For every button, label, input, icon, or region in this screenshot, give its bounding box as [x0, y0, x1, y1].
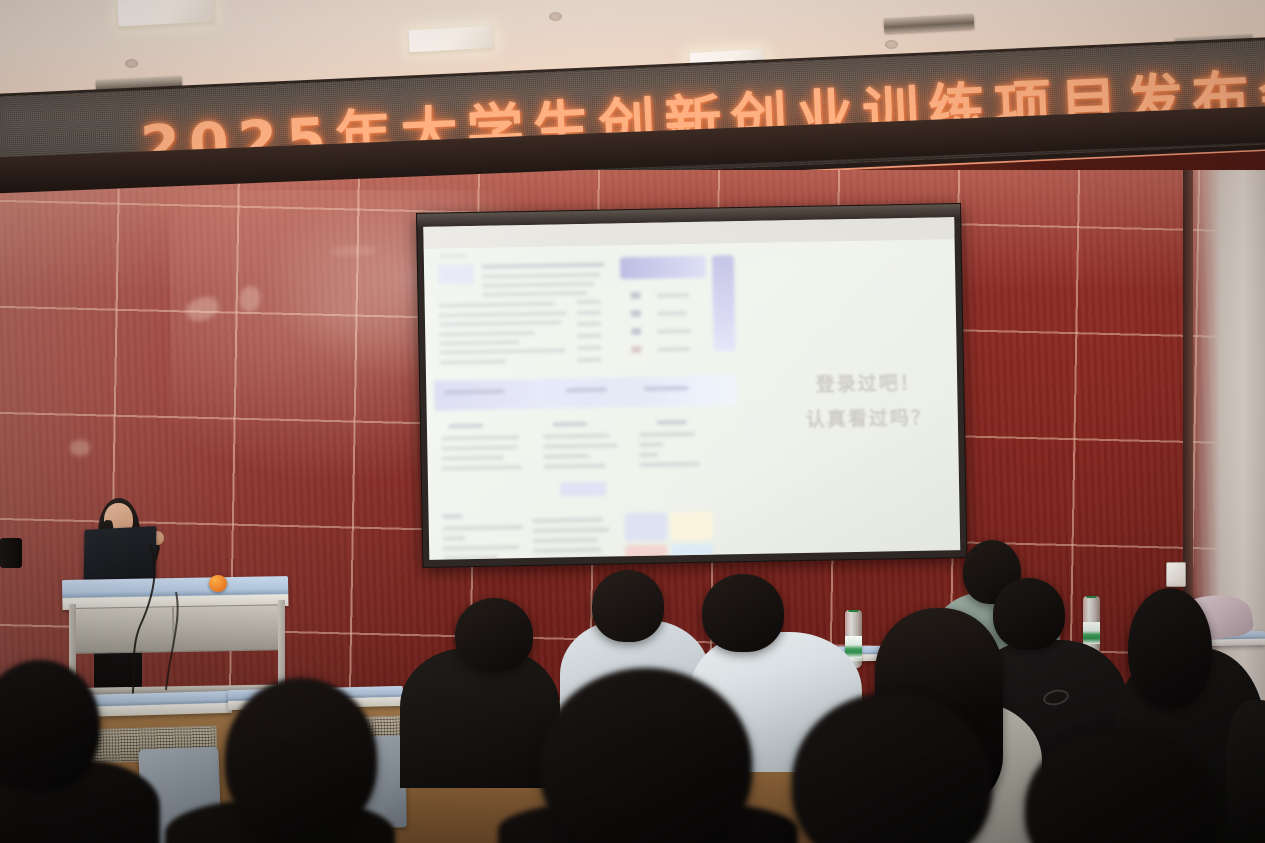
- smoke-detector-icon: [125, 59, 138, 68]
- attendee-foreground-curly-head: [225, 678, 377, 838]
- attendee-far-right-edge: [1226, 700, 1265, 843]
- bottle-label: [852, 640, 869, 662]
- slide-button: [560, 482, 606, 497]
- podium-front-panel: [70, 604, 283, 654]
- attendee-pink-cap-hair: [1128, 588, 1212, 708]
- bottle-cap: [848, 610, 859, 612]
- slide-tile-blue: [625, 512, 668, 541]
- projection-screen: 登录过吧！ 认真看过吗？: [416, 203, 967, 568]
- slide-overlay-line-1: 登录过吧！: [805, 366, 932, 403]
- slide-overlay-text: 登录过吧！ 认真看过吗？: [805, 366, 932, 439]
- attendee-dark-left-head: [455, 598, 533, 672]
- ceiling-light: [408, 26, 493, 52]
- bottle-cap: [855, 614, 866, 616]
- screen-surface: 登录过吧！ 认真看过吗？: [423, 217, 960, 560]
- attendee-foreground-center-head: [540, 668, 752, 843]
- stage-equipment: [0, 538, 22, 568]
- bottle-label: [1083, 622, 1100, 644]
- bottle-cap: [1086, 596, 1097, 598]
- slide-sidebar: [712, 255, 736, 351]
- attendee-black-logo-jacket-head: [993, 578, 1065, 650]
- slide-badge: [438, 264, 474, 285]
- slide-tile-red: [625, 544, 667, 559]
- slide-tile-cyan: [671, 544, 713, 560]
- wall-smudge: [70, 440, 90, 456]
- laptop-screen: [84, 526, 157, 586]
- orange-fruit: [209, 575, 227, 592]
- light-switch[interactable]: [1166, 562, 1186, 587]
- lecture-hall-photo: 2025年大学生创新创业训练项目发布会: [0, 0, 1265, 843]
- slide-header-bar: [620, 256, 706, 280]
- slide-overlay-line-2: 认真看过吗？: [806, 401, 933, 438]
- attendee-gray-hoodie-head: [592, 570, 664, 642]
- attendee-white-puffer-head: [702, 574, 784, 652]
- slide-tile-amber: [671, 512, 714, 541]
- smoke-detector-icon: [549, 12, 562, 21]
- smoke-detector-icon: [885, 40, 898, 49]
